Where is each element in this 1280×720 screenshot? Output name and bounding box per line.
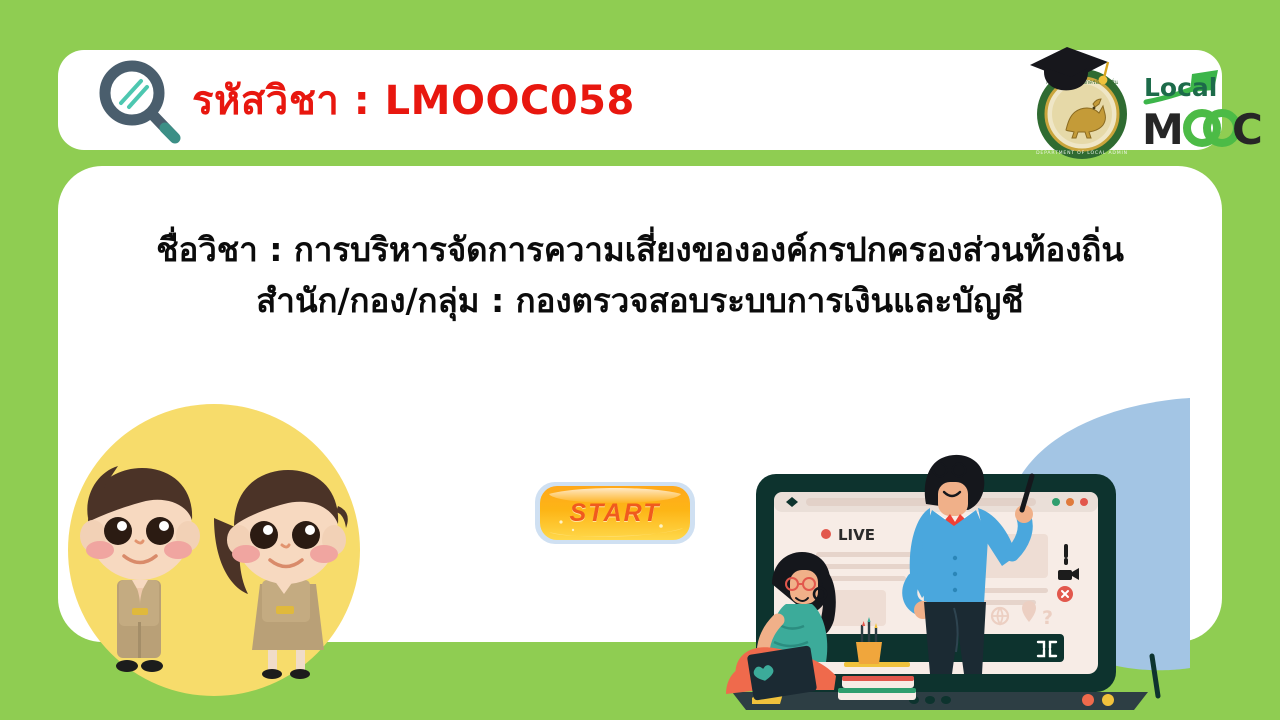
svg-text:M: M bbox=[1142, 105, 1184, 152]
start-button[interactable]: START bbox=[533, 478, 697, 548]
localmooc-logo: กรมส่งเสริมการปกครองท้องถิ่น DEPARTMENT … bbox=[1018, 30, 1280, 170]
graduation-cap-icon bbox=[1026, 42, 1112, 98]
thai-officers-illustration bbox=[62, 398, 378, 698]
start-button-face bbox=[533, 478, 697, 548]
department-label: สำนัก/กอง/กลุ่ม : กองตรวจสอบระบบการเงินแ… bbox=[58, 279, 1222, 324]
course-code-label: รหัสวิชา : LMOOC058 bbox=[192, 68, 635, 132]
brand-top-text: Local bbox=[1144, 73, 1217, 102]
course-name-label: ชื่อวิชา : การบริหารจัดการความเสี่ยงของอ… bbox=[58, 228, 1222, 273]
course-title-block: ชื่อวิชา : การบริหารจัดการความเสี่ยงของอ… bbox=[58, 228, 1222, 323]
online-learning-illustration: LIVE bbox=[716, 398, 1190, 718]
svg-text:DEPARTMENT OF LOCAL ADMIN: DEPARTMENT OF LOCAL ADMIN bbox=[1036, 150, 1128, 156]
course-code-header-card: รหัสวิชา : LMOOC058 กรมส่งเสริมการปกครอง… bbox=[58, 50, 1222, 150]
live-badge-label: LIVE bbox=[838, 526, 875, 544]
svg-text:?: ? bbox=[1042, 607, 1053, 629]
books-stack bbox=[838, 662, 916, 700]
localmooc-wordmark: Local M C bbox=[1140, 68, 1270, 152]
svg-text:C: C bbox=[1232, 105, 1263, 152]
magnifier-icon bbox=[96, 58, 182, 144]
student-figure bbox=[726, 552, 836, 704]
slide-canvas: รหัสวิชา : LMOOC058 กรมส่งเสริมการปกครอง… bbox=[0, 0, 1280, 720]
live-dot-icon bbox=[821, 529, 831, 539]
brand-bottom-text: M C bbox=[1142, 105, 1263, 152]
